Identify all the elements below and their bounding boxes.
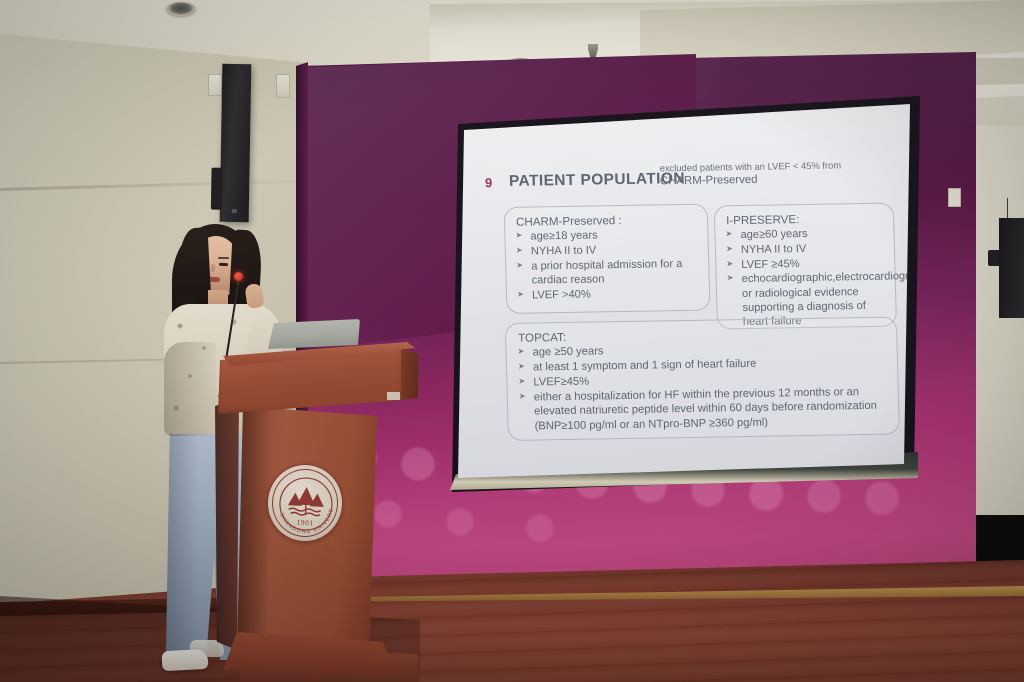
slide-title: PATIENT POPULATION <box>509 170 685 191</box>
list-item-text: NYHA II to IV <box>741 243 807 256</box>
list-item-text: LVEF≥45% <box>533 375 589 388</box>
slide-box-charm-preserved: CHARM-Preserved : ➤age≥18 years ➤NYHA II… <box>504 204 711 314</box>
hand <box>244 283 264 309</box>
list-item-text: LVEF ≥45% <box>741 258 800 271</box>
list-item: ➤a prior hospital admission for a cardia… <box>515 256 700 288</box>
bullet-arrow-icon: ➤ <box>517 289 524 300</box>
box-bullet-list: ➤age≥60 years ➤NYHA II to IV ➤LVEF ≥45% … <box>724 226 887 330</box>
wall-sensor <box>276 74 290 98</box>
list-item-text: age≥18 years <box>530 229 597 242</box>
seal-artwork: 1901 SHANDONG UNIVERSITY <box>266 463 345 544</box>
bullet-arrow-icon: ➤ <box>726 244 733 255</box>
box-bullet-list: ➤age≥18 years ➤NYHA II to IV ➤a prior ho… <box>514 227 700 303</box>
slide-box-i-preserve: I-PRESERVE: ➤age≥60 years ➤NYHA II to IV… <box>714 203 897 330</box>
podium-left-shadow <box>215 392 239 652</box>
trousers-shading <box>164 418 198 660</box>
speaker-led-icon <box>232 209 237 213</box>
left-wall-speaker <box>220 64 252 222</box>
slide-annotation-line1: excluded patients with an LVEF < 45% fro… <box>660 159 842 173</box>
list-item-text: either a hospitalization for HF within t… <box>534 386 877 432</box>
bullet-arrow-icon: ➤ <box>515 231 522 242</box>
list-item-text: at least 1 symptom and 1 sign of heart f… <box>533 358 757 374</box>
list-item-text: LVEF >40% <box>532 288 591 301</box>
list-item: ➤LVEF >40% <box>516 285 700 302</box>
list-item: ➤either a hospitalization for HF within … <box>518 384 889 433</box>
wall-plate <box>208 74 222 96</box>
bullet-arrow-icon: ➤ <box>518 377 525 388</box>
bullet-arrow-icon: ➤ <box>516 260 523 271</box>
right-wall-plate <box>948 188 961 207</box>
podium: 1901 SHANDONG UNIVERSITY <box>215 332 415 680</box>
bullet-arrow-icon: ➤ <box>516 245 523 256</box>
shandong-university-seal-icon: 1901 SHANDONG UNIVERSITY <box>265 462 344 543</box>
bullet-arrow-icon: ➤ <box>518 362 525 373</box>
lecture-hall-scene: 9 PATIENT POPULATION excluded patients w… <box>0 0 1024 682</box>
bullet-arrow-icon: ➤ <box>727 274 734 285</box>
recessed-downlight-icon <box>166 2 196 16</box>
svg-text:1901: 1901 <box>296 518 314 528</box>
nose <box>211 264 215 272</box>
bullet-arrow-icon: ➤ <box>519 391 526 402</box>
list-item-text: age≥60 years <box>740 228 807 241</box>
presentation-slide: 9 PATIENT POPULATION excluded patients w… <box>458 104 910 478</box>
right-wall-speaker <box>999 218 1024 318</box>
slide-box-topcat: TOPCAT: ➤age ≥50 years ➤at least 1 sympt… <box>505 316 900 440</box>
box-heading: I-PRESERVE: <box>726 212 884 228</box>
list-item-text: a prior hospital admission for a cardiac… <box>531 258 682 287</box>
slide-annotation-line2: CHARM-Preserved <box>660 174 758 188</box>
bullet-arrow-icon: ➤ <box>517 347 524 358</box>
eye <box>219 263 228 266</box>
shoe-front <box>162 649 209 671</box>
bullet-arrow-icon: ➤ <box>726 259 733 270</box>
podium-label-plate <box>387 392 400 400</box>
box-bullet-list: ➤age ≥50 years ➤at least 1 symptom and 1… <box>516 340 888 434</box>
projection-screen[interactable]: 9 PATIENT POPULATION excluded patients w… <box>458 104 910 478</box>
slide-number: 9 <box>485 175 493 190</box>
eyebrow <box>218 257 229 259</box>
list-item-text: NYHA II to IV <box>531 244 597 257</box>
list-item-text: age ≥50 years <box>532 345 603 358</box>
slide-annotation: excluded patients with an LVEF < 45% fro… <box>660 159 881 189</box>
blouse-shading <box>164 342 216 436</box>
bullet-arrow-icon: ➤ <box>725 229 732 240</box>
microphone-icon <box>234 272 243 281</box>
